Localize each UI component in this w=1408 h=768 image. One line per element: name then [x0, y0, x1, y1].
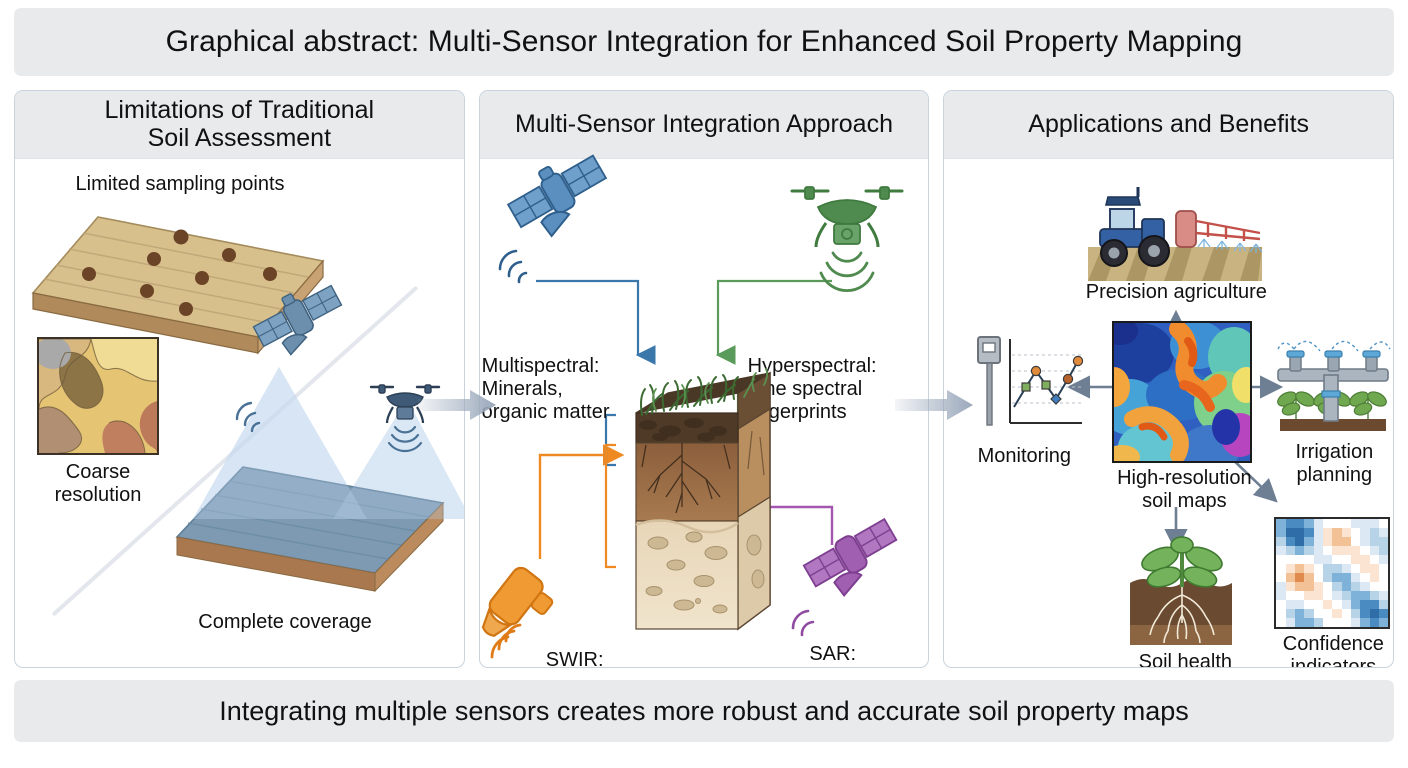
- tractor-sprayer-icon: [1080, 181, 1270, 286]
- abstract-title-banner: Graphical abstract: Multi-Sensor Integra…: [14, 8, 1394, 76]
- monitoring-label: Monitoring: [944, 445, 1104, 468]
- panel-integration: Multi-Sensor Integration Approach: [479, 90, 930, 668]
- arrow-integration-to-applications: [895, 388, 975, 422]
- multispectral-line3: organic matter: [482, 401, 610, 423]
- coverage-scene: [155, 299, 465, 629]
- panel-applications-header: Applications and Benefits: [944, 91, 1393, 159]
- coarse-label-line1: Coarse: [66, 461, 130, 483]
- confidence-label: Confidence indicators: [1258, 633, 1394, 668]
- panel-applications-title: Applications and Benefits: [1028, 111, 1309, 139]
- swir-line1: SWIR:: [546, 649, 604, 668]
- soil-maps-line2: soil maps: [1142, 490, 1226, 512]
- page-title: Graphical abstract: Multi-Sensor Integra…: [166, 25, 1243, 59]
- limited-sampling-label: Limited sampling points: [35, 173, 325, 196]
- panel-row: Limitations of Traditional Soil Assessme…: [14, 90, 1394, 668]
- multispectral-label: Multispectral: Minerals, organic matter: [482, 355, 642, 423]
- sar-line2: Surface: [798, 666, 867, 668]
- soil-profile-block: [620, 357, 780, 657]
- multispectral-line1: Multispectral:: [482, 355, 600, 377]
- soil-maps-label: High-resolution soil maps: [1094, 467, 1274, 513]
- satellite-icon: [490, 179, 610, 289]
- sar-satellite-icon: [780, 541, 900, 651]
- panel-limitations: Limitations of Traditional Soil Assessme…: [14, 90, 465, 668]
- panel-limitations-title: Limitations of Traditional Soil Assessme…: [105, 97, 375, 152]
- panel-limitations-body: Limited sampling points: [15, 159, 464, 667]
- panel-title-line1: Limitations of Traditional: [105, 96, 375, 124]
- swir-sensor-icon: [490, 549, 600, 659]
- sprinkler-icon: [1274, 331, 1392, 441]
- panel-integration-body: Multispectral: Minerals, organic matter: [480, 159, 929, 667]
- precision-agriculture-label: Precision agriculture: [1070, 281, 1282, 304]
- soil-health-label: Soil health: [1110, 651, 1260, 668]
- arrow-limitations-to-integration: [418, 388, 498, 422]
- sar-label: SAR: Surface roughness, moisture: [738, 643, 928, 668]
- irrigation-line2: planning: [1297, 464, 1373, 486]
- complete-coverage-label: Complete coverage: [145, 611, 425, 634]
- coarse-resolution-label: Coarse resolution: [23, 461, 173, 507]
- panel-applications-body: Precision agriculture: [944, 159, 1393, 667]
- sar-line1: SAR:: [809, 643, 856, 665]
- coarse-label-line2: resolution: [55, 484, 142, 506]
- abstract-caption-banner: Integrating multiple sensors creates mor…: [14, 680, 1394, 742]
- panel-integration-title: Multi-Sensor Integration Approach: [515, 111, 893, 139]
- soil-maps-line1: High-resolution: [1117, 467, 1252, 489]
- drone-icon: [788, 181, 906, 291]
- panel-integration-header: Multi-Sensor Integration Approach: [480, 91, 929, 159]
- graphical-abstract: Graphical abstract: Multi-Sensor Integra…: [0, 0, 1408, 768]
- irrigation-line1: Irrigation: [1295, 441, 1373, 463]
- confidence-line1: Confidence: [1283, 633, 1384, 655]
- seedling-roots-icon: [1120, 539, 1244, 655]
- confidence-grid-icon: [1274, 517, 1390, 629]
- soil-heatmap-icon: [1112, 321, 1252, 463]
- confidence-line2: indicators: [1291, 656, 1377, 668]
- panel-applications: Applications and Benefits: [943, 90, 1394, 668]
- irrigation-label: Irrigation planning: [1264, 441, 1394, 487]
- panel-title-line2: Soil Assessment: [148, 124, 331, 152]
- panel-limitations-header: Limitations of Traditional Soil Assessme…: [15, 91, 464, 159]
- page-caption: Integrating multiple sensors creates mor…: [219, 696, 1188, 727]
- sensor-chart-icon: [956, 331, 1088, 443]
- swir-label: SWIR: Moisture, composition: [480, 649, 670, 668]
- coarse-resolution-map-icon: [37, 337, 159, 455]
